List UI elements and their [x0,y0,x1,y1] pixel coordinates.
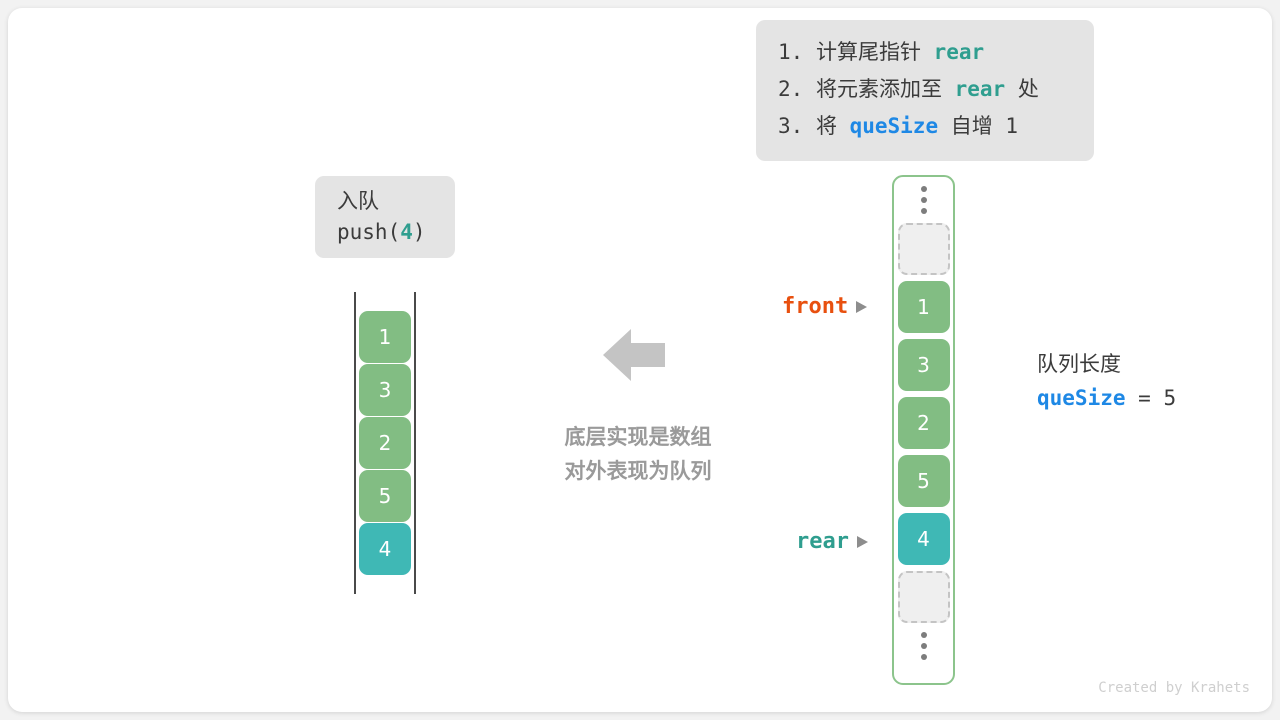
operation-call-suffix: ) [413,220,426,244]
operation-call-value: 4 [400,220,413,244]
front-arrow-icon [856,301,867,313]
queue-size-annotation: 队列长度 queSize = 5 [1037,348,1176,415]
left-cell: 4 [359,523,411,575]
step-line-2: 2. 将元素添加至 rear 处 [778,71,1076,108]
step-2-code: rear [955,77,1006,101]
left-queue-rail-left [354,292,356,594]
caption-line-2: 对外表现为队列 [538,454,738,488]
step-2-text-after: 处 [1005,77,1039,101]
array-cell-empty [898,223,950,275]
operation-call-prefix: push( [337,220,400,244]
caption-line-1: 底层实现是数组 [538,420,738,454]
diagram-card: 1. 计算尾指针 rear 2. 将元素添加至 rear 处 3. 将 queS… [8,8,1272,712]
step-3-text-after: 自增 1 [938,114,1018,138]
left-queue-rail-right [414,292,416,594]
left-cell: 5 [359,470,411,522]
left-cell: 1 [359,311,411,363]
ellipsis-bottom-icon [921,623,927,669]
step-2-index: 2. [778,77,803,101]
operation-call: push(4) [337,216,455,248]
footer-credit: Created by Krahets [1098,680,1250,696]
ellipsis-top-icon [921,177,927,223]
step-line-1: 1. 计算尾指针 rear [778,34,1076,71]
step-2-text-before: 将元素添加至 [803,77,954,101]
operation-title: 入队 [337,186,455,216]
step-1-index: 1. [778,40,803,64]
steps-box: 1. 计算尾指针 rear 2. 将元素添加至 rear 处 3. 将 queS… [756,20,1094,161]
step-1-text-before: 计算尾指针 [803,40,933,64]
step-line-3: 3. 将 queSize 自增 1 [778,108,1076,145]
array-cell-empty [898,571,950,623]
operation-box: 入队 push(4) [315,176,455,258]
step-3-text-before: 将 [803,114,849,138]
right-array-cells: 1 3 2 5 4 [898,223,950,623]
front-pointer-text: front [782,294,848,319]
caption-text: 底层实现是数组 对外表现为队列 [538,420,738,488]
step-3-code: queSize [850,114,939,138]
array-cell: 4 [898,513,950,565]
queue-size-expression: queSize = 5 [1037,381,1176,415]
rear-arrow-icon [857,536,868,548]
step-3-index: 3. [778,114,803,138]
step-1-code: rear [934,40,985,64]
array-cell: 3 [898,339,950,391]
front-pointer-label: front [782,294,867,319]
array-cell: 2 [898,397,950,449]
queue-size-value: 5 [1163,386,1176,410]
right-array-container: 1 3 2 5 4 [892,175,955,685]
queue-size-var: queSize [1037,386,1126,410]
left-cell: 3 [359,364,411,416]
array-cell: 5 [898,455,950,507]
left-cell: 2 [359,417,411,469]
left-queue-cells: 1 3 2 5 4 [359,311,411,575]
queue-size-title: 队列长度 [1037,348,1176,381]
transform-arrow-icon [603,328,665,382]
rear-pointer-label: rear [796,529,868,554]
array-cell: 1 [898,281,950,333]
diagram-canvas: 1. 计算尾指针 rear 2. 将元素添加至 rear 处 3. 将 queS… [0,0,1280,720]
rear-pointer-text: rear [796,529,849,554]
left-queue-column: 1 3 2 5 4 [354,292,416,594]
queue-size-equals: = [1126,386,1164,410]
